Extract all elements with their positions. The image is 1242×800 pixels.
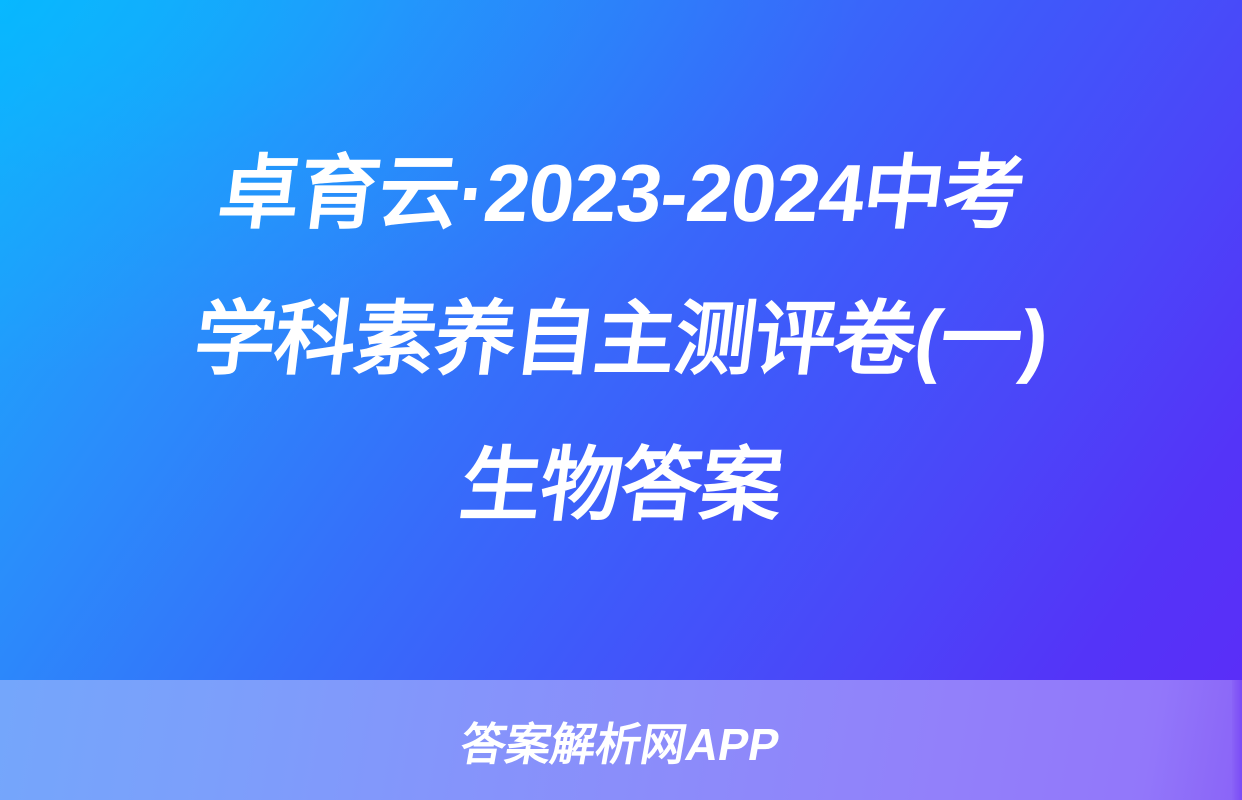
exam-title-line-3: 生物答案 bbox=[452, 413, 790, 559]
exam-title-line-2: 学科素养自主测评卷(一) bbox=[186, 267, 1056, 413]
poster-canvas: 卓育云·2023-2024中考 学科素养自主测评卷(一) 生物答案 答案解析网A… bbox=[0, 0, 1242, 800]
exam-title-block: 卓育云·2023-2024中考 学科素养自主测评卷(一) 生物答案 bbox=[0, 0, 1242, 680]
app-watermark-label: 答案解析网APP bbox=[457, 708, 786, 773]
exam-title-line-1: 卓育云·2023-2024中考 bbox=[210, 121, 1032, 267]
footer-watermark-band: 答案解析网APP bbox=[0, 680, 1242, 800]
footer-edge-strip bbox=[1232, 680, 1242, 800]
